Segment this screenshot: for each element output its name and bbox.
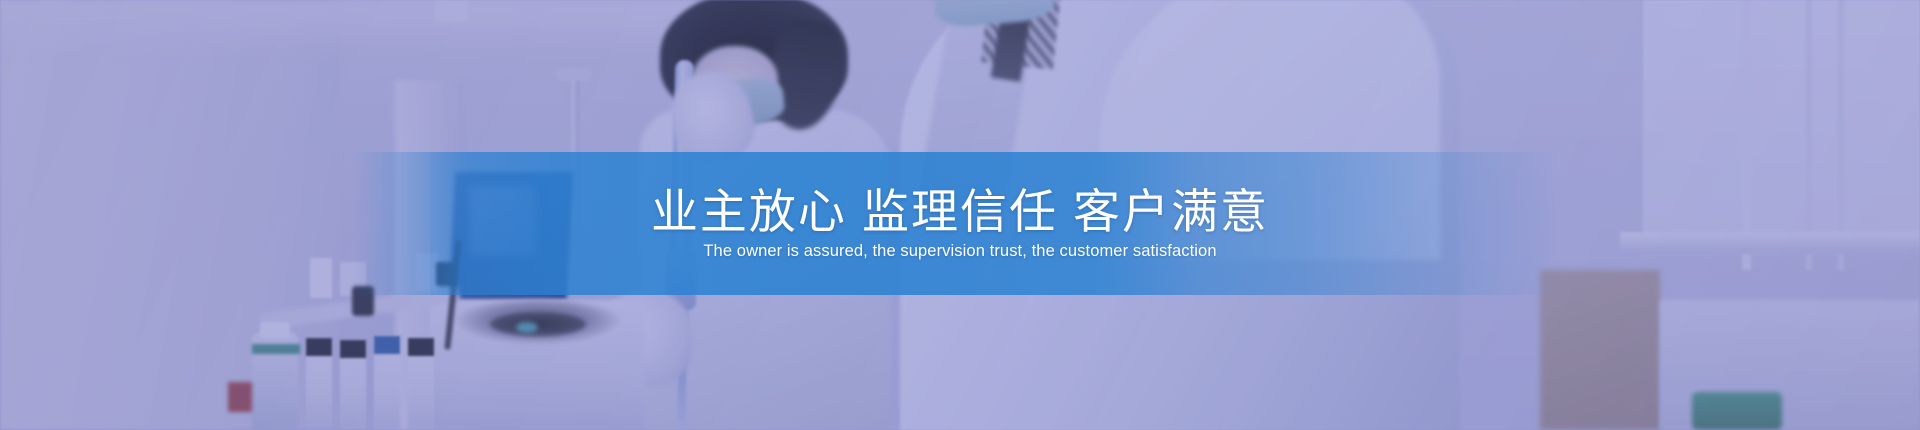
banner-text-block: 业主放心 监理信任 客户满意 The owner is assured, the…: [0, 152, 1920, 295]
banner-headline: 业主放心 监理信任 客户满意: [651, 186, 1269, 239]
banner-subtitle: The owner is assured, the supervision tr…: [703, 242, 1216, 261]
hero-banner: 业主放心 监理信任 客户满意 The owner is assured, the…: [0, 0, 1920, 430]
